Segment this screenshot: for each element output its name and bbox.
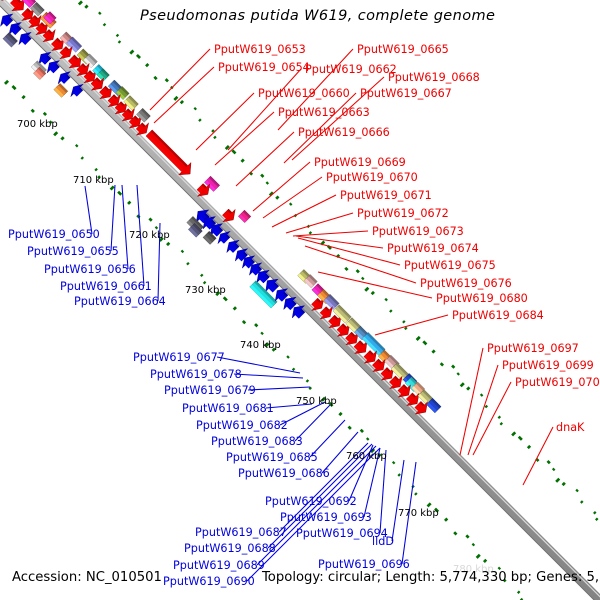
gene-label-pputw619-0653[interactable]: PputW619_0653	[214, 44, 306, 55]
gene-label-pputw619-0656[interactable]: PputW619_0656	[44, 264, 136, 275]
gene-label-pputw619-0663[interactable]: PputW619_0663	[278, 107, 370, 118]
gene-label-pputw619-0667[interactable]: PputW619_0667	[360, 88, 452, 99]
gene-label-pputw619-0693[interactable]: PputW619_0693	[280, 512, 372, 523]
gene-label-pputw619-0672[interactable]: PputW619_0672	[357, 208, 449, 219]
gene-label-pputw619-0676[interactable]: PputW619_0676	[420, 278, 512, 289]
gene-label-pputw619-0673[interactable]: PputW619_0673	[372, 226, 464, 237]
gene-label-pputw619-0679[interactable]: PputW619_0679	[164, 385, 256, 396]
accession-status: Accession: NC_010501	[12, 571, 162, 584]
tick-label-760-kbp: 760 kbp	[346, 452, 387, 462]
gene-label-pputw619-0662[interactable]: PputW619_0662	[305, 64, 397, 75]
gene-label-dnak[interactable]: dnaK	[556, 422, 584, 433]
gene-label-pputw619-0683[interactable]: PputW619_0683	[211, 436, 303, 447]
gene-label-pputw619-0669[interactable]: PputW619_0669	[314, 157, 406, 168]
gene-label-pputw619-0692[interactable]: PputW619_0692	[265, 496, 357, 507]
tick-label-740-kbp: 740 kbp	[240, 341, 281, 351]
gene-label-pputw619-0668[interactable]: PputW619_0668	[388, 72, 480, 83]
tick-label-700-kbp: 700 kbp	[17, 120, 58, 130]
genome-map-viewer: Pseudomonas putida W619, complete genome…	[0, 0, 600, 600]
gene-label-pputw619-0654[interactable]: PputW619_0654	[218, 62, 310, 73]
gene-label-pputw619-0661[interactable]: PputW619_0661	[60, 281, 152, 292]
tick-label-720-kbp: 720 kbp	[129, 231, 170, 241]
gene-label-pputw619-0678[interactable]: PputW619_0678	[150, 369, 242, 380]
gene-label-pputw619-0655[interactable]: PputW619_0655	[27, 246, 119, 257]
gene-label-pputw619-0675[interactable]: PputW619_0675	[404, 260, 496, 271]
gene-label-pputw619-0696[interactable]: PputW619_0696	[318, 559, 410, 570]
gene-label-pputw619-0680[interactable]: PputW619_0680	[436, 293, 528, 304]
gene-label-pputw619-0697[interactable]: PputW619_0697	[487, 343, 579, 354]
tick-label-770-kbp: 770 kbp	[398, 509, 439, 519]
gene-label-pputw619-0700[interactable]: PputW619_0700	[515, 377, 600, 388]
gene-label-pputw619-0666[interactable]: PputW619_0666	[298, 127, 390, 138]
gene-label-pputw619-0699[interactable]: PputW619_0699	[502, 360, 594, 371]
topology-status: Topology: circular; Length: 5,774,330 bp…	[262, 571, 600, 584]
gene-label-pputw619-0665[interactable]: PputW619_0665	[357, 44, 449, 55]
gene-label-pputw619-0660[interactable]: PputW619_0660	[258, 88, 350, 99]
gene-label-pputw619-0650[interactable]: PputW619_0650	[8, 229, 100, 240]
gene-label-pputw619-0681[interactable]: PputW619_0681	[182, 403, 274, 414]
gene-label-pputw619-0671[interactable]: PputW619_0671	[340, 190, 432, 201]
page-title: Pseudomonas putida W619, complete genome	[140, 9, 495, 24]
gene-label-pputw619-0690[interactable]: PputW619_0690	[163, 576, 255, 587]
gene-label-pputw619-0685[interactable]: PputW619_0685	[226, 452, 318, 463]
gene-label-pputw619-0684[interactable]: PputW619_0684	[452, 310, 544, 321]
gene-label-lldd[interactable]: lldD	[372, 536, 394, 547]
gene-label-pputw619-0677[interactable]: PputW619_0677	[133, 352, 225, 363]
gene-label-pputw619-0686[interactable]: PputW619_0686	[238, 468, 330, 479]
gene-label-pputw619-0689[interactable]: PputW619_0689	[173, 560, 265, 571]
gene-label-pputw619-0687[interactable]: PputW619_0687	[195, 527, 287, 538]
gene-label-pputw619-0688[interactable]: PputW619_0688	[184, 543, 276, 554]
gene-label-pputw619-0670[interactable]: PputW619_0670	[326, 172, 418, 183]
tick-label-730-kbp: 730 kbp	[185, 286, 226, 296]
gene-label-pputw619-0664[interactable]: PputW619_0664	[74, 296, 166, 307]
tick-label-710-kbp: 710 kbp	[73, 176, 114, 186]
tick-label-750-kbp: 750 kbp	[296, 397, 337, 407]
gene-label-pputw619-0682[interactable]: PputW619_0682	[196, 420, 288, 431]
gene-label-pputw619-0674[interactable]: PputW619_0674	[387, 243, 479, 254]
